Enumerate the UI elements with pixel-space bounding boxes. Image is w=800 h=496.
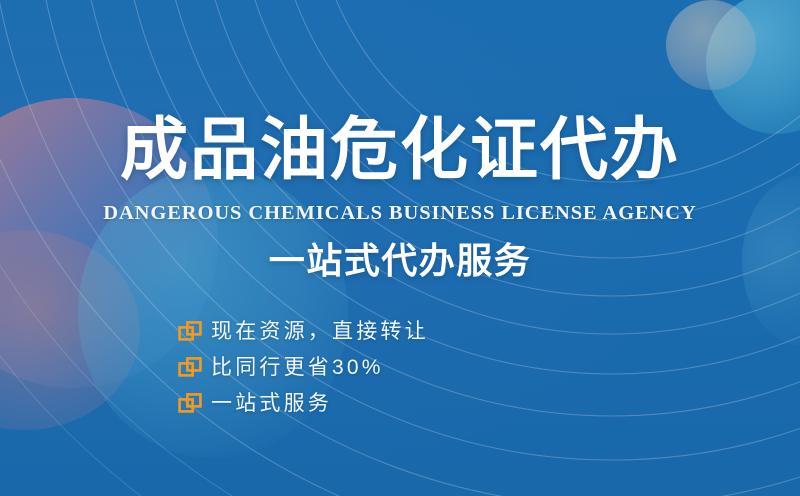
copy-squares-icon bbox=[178, 320, 202, 344]
headline-title: 成品油危化证代办 bbox=[0, 116, 800, 184]
english-subtitle: DANGEROUS CHEMICALS BUSINESS LICENSE AGE… bbox=[0, 203, 800, 224]
list-item-label: 一站式服务 bbox=[211, 393, 332, 414]
list-item-label: 比同行更省30% bbox=[211, 357, 384, 378]
list-item: 一站式服务 bbox=[178, 390, 429, 417]
sub-headline: 一站式代办服务 bbox=[0, 243, 800, 279]
banner-content: 成品油危化证代办 DANGEROUS CHEMICALS BUSINESS LI… bbox=[0, 0, 800, 496]
promo-banner: 成品油危化证代办 DANGEROUS CHEMICALS BUSINESS LI… bbox=[0, 0, 800, 496]
copy-squares-icon bbox=[178, 356, 202, 380]
list-item: 现在资源，直接转让 bbox=[178, 318, 429, 345]
list-item: 比同行更省30% bbox=[178, 354, 429, 381]
feature-list: 现在资源，直接转让 比同行更省30% 一站式 bbox=[178, 318, 429, 417]
copy-squares-icon bbox=[178, 392, 202, 416]
list-item-label: 现在资源，直接转让 bbox=[211, 321, 429, 342]
